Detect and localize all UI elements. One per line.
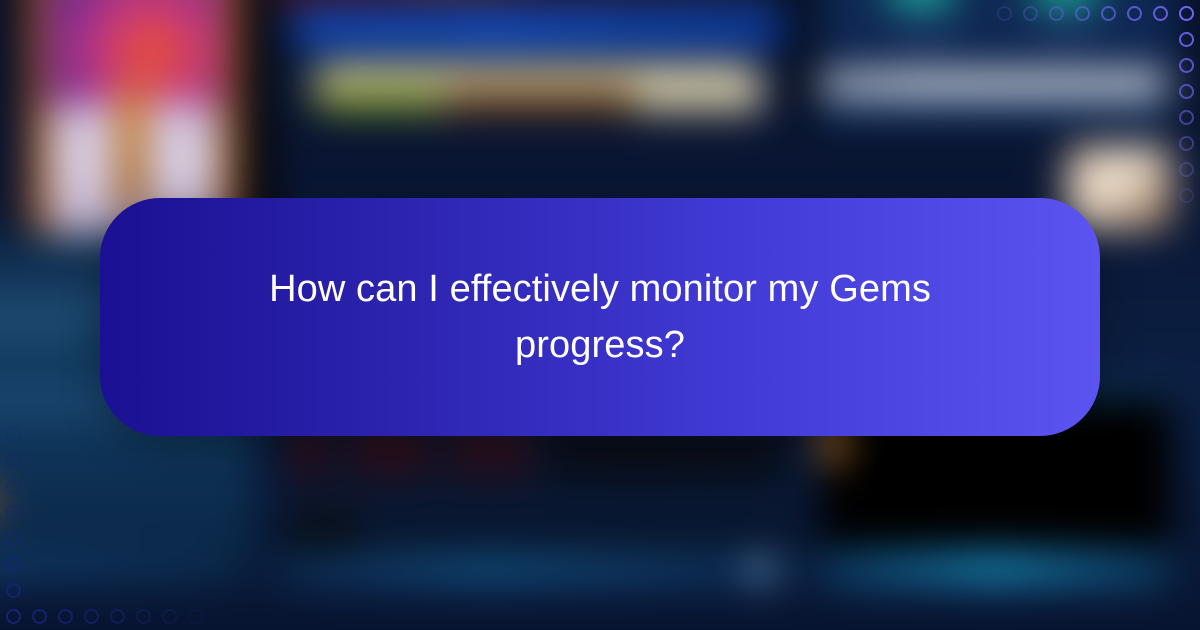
decorative-circle [6,583,21,598]
decorative-circle [1179,188,1194,203]
decorative-circle [32,609,47,624]
bg-right-label [893,29,952,41]
bg-left-card-figure [118,87,146,214]
decorative-circle [162,609,177,624]
decorative-circle [1179,58,1194,73]
decorative-circle [1179,136,1194,151]
decorative-circle [6,453,21,468]
decorative-circle [1049,6,1064,21]
decorative-circle [997,6,1012,21]
decorative-circle [1075,6,1090,21]
decorative-circles-top-right [992,0,1200,208]
decorative-circle [1179,110,1194,125]
bg-center-item-slot [727,77,763,113]
bg-inventory-slot [295,511,320,549]
decorative-circle [6,479,21,494]
bg-bottom-footer-bar [274,554,804,586]
decorative-circle [188,609,203,624]
decorative-circle [1101,6,1116,21]
decorative-circle [6,505,21,520]
decorative-circle [58,609,73,624]
decorative-circle [6,531,21,546]
decorative-circle [1179,6,1194,21]
decorative-circle [1127,6,1142,21]
decorative-circle [1153,6,1168,21]
bg-center-green-items [316,87,443,112]
decorative-circle [1023,6,1038,21]
question-card: How can I effectively monitor my Gems pr… [100,198,1100,436]
bg-center-item-slot [642,77,678,113]
decorative-circle [110,609,125,624]
bg-center-item-slot [685,77,721,113]
decorative-circles-bottom-left [0,422,208,630]
decorative-circle [1179,32,1194,47]
decorative-circle [6,557,21,572]
bg-center-red-band [271,0,769,2]
bg-left-text-line [0,333,91,344]
bg-center-right-gutter [787,0,819,119]
question-text: How can I effectively monitor my Gems pr… [210,261,990,373]
bg-star-icon [748,558,771,581]
decorative-circle [84,609,99,624]
decorative-circle [136,609,151,624]
decorative-circle [6,609,21,624]
bg-left-gutter [0,0,25,236]
bg-center-tab-divider [632,13,635,45]
bg-center-blue-tabs [295,11,783,47]
bg-inventory-slot [331,511,356,549]
bg-right-cyan-strip [818,551,1172,585]
bg-right-teal-icon [886,0,956,7]
bg-center-brown-items [443,87,634,112]
bg-center-tab-divider [436,13,439,45]
decorative-circle [6,427,21,442]
decorative-circle [1179,162,1194,177]
share-card-canvas: How can I effectively monitor my Gems pr… [0,0,1200,630]
decorative-circle [1179,84,1194,99]
